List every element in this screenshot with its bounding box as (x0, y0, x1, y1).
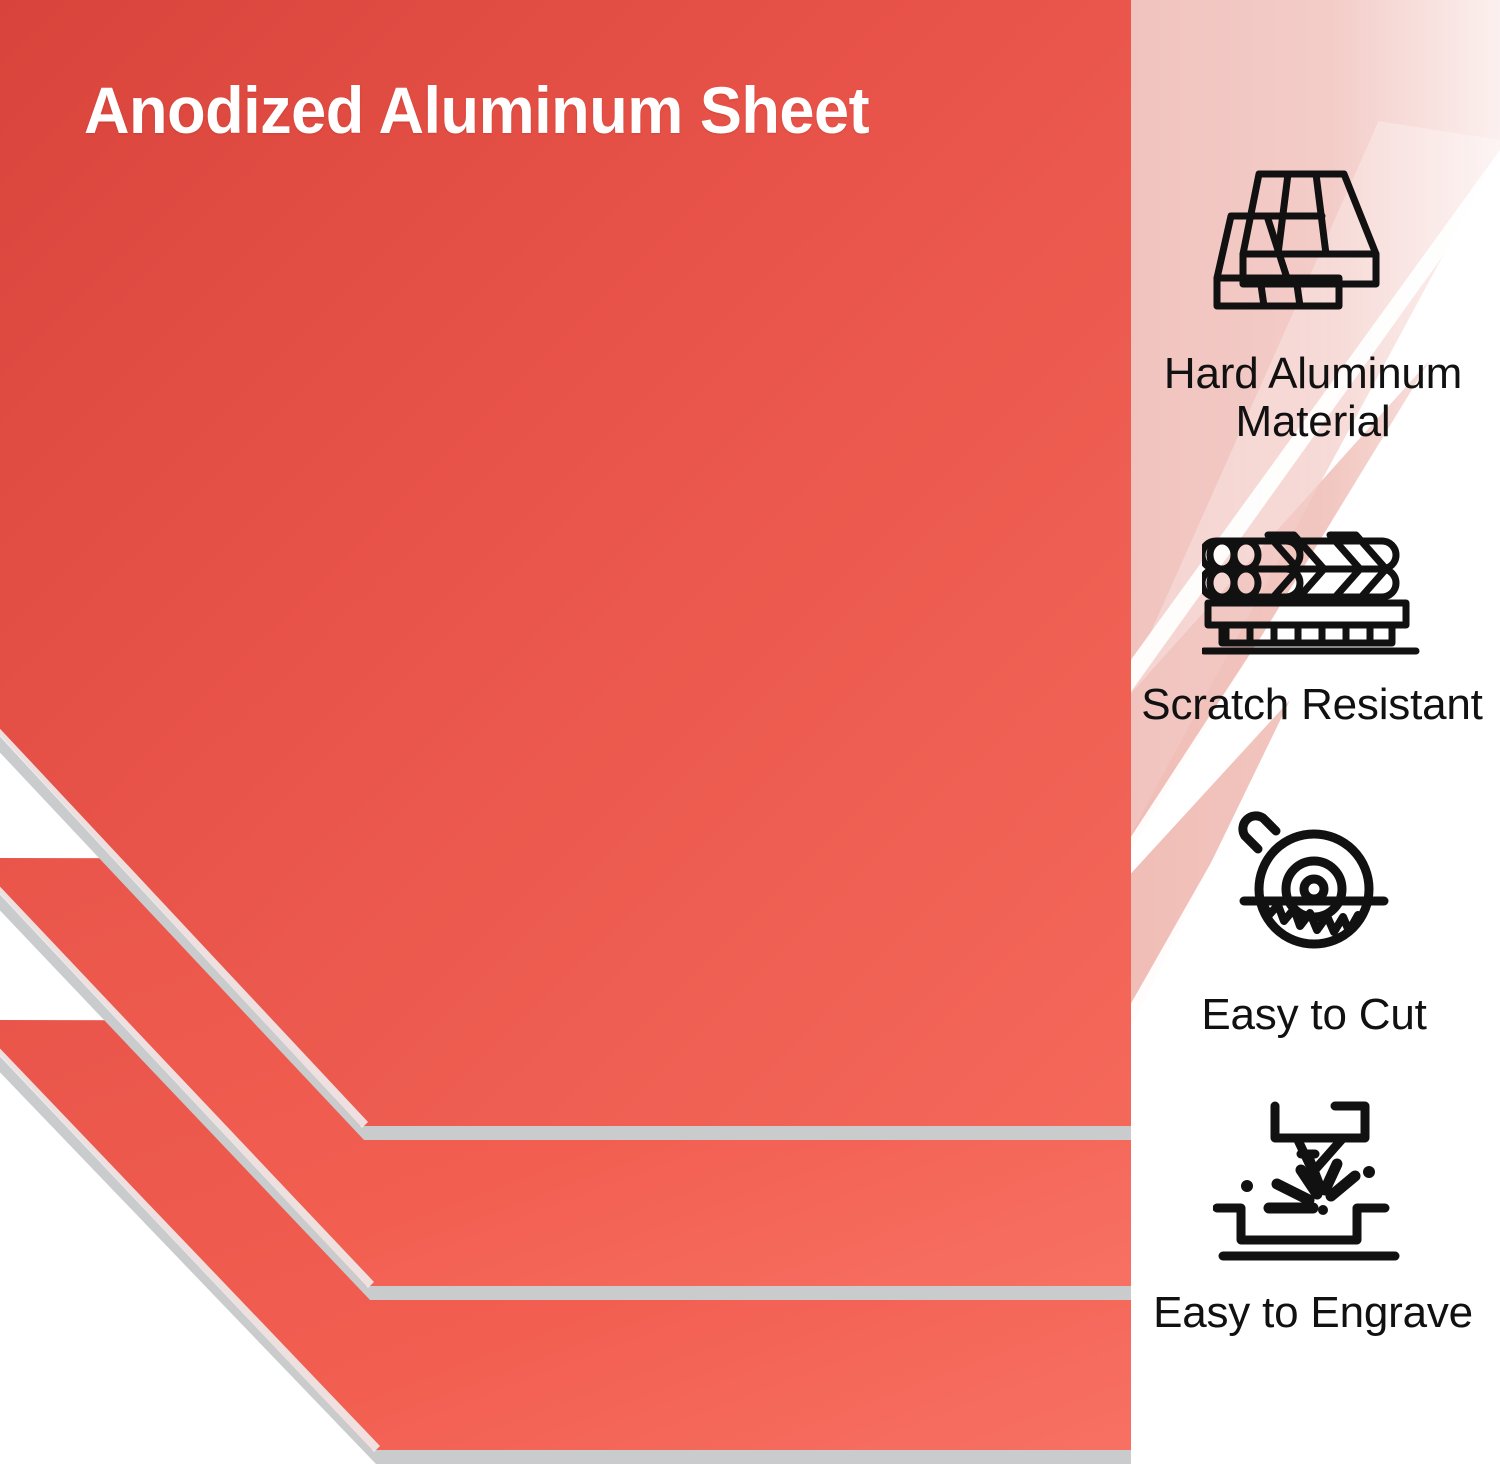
feature-label: Hard Aluminum Material (1164, 350, 1462, 445)
metal-profiles-rack-icon (1202, 505, 1422, 657)
stacked-sheets-icon (1204, 160, 1422, 330)
feature-label: Easy to Engrave (1153, 1289, 1473, 1337)
feature-item-hard-aluminum-material: Hard Aluminum Material (1126, 160, 1500, 445)
feature-item-scratch-resistant: Scratch Resistant (1124, 505, 1500, 729)
feature-item-easy-to-cut: Easy to Cut (1128, 805, 1500, 1039)
page-title: Anodized Aluminum Sheet (84, 76, 1058, 145)
feature-label: Scratch Resistant (1141, 681, 1482, 729)
product-infographic: Anodized Aluminum Sheet Hard Aluminum Ma… (0, 0, 1500, 1464)
feature-label: Easy to Cut (1201, 991, 1426, 1039)
laser-engraver-icon (1213, 1098, 1413, 1263)
circular-saw-blade-icon (1214, 805, 1414, 965)
feature-item-easy-to-engrave: Easy to Engrave (1126, 1098, 1500, 1337)
